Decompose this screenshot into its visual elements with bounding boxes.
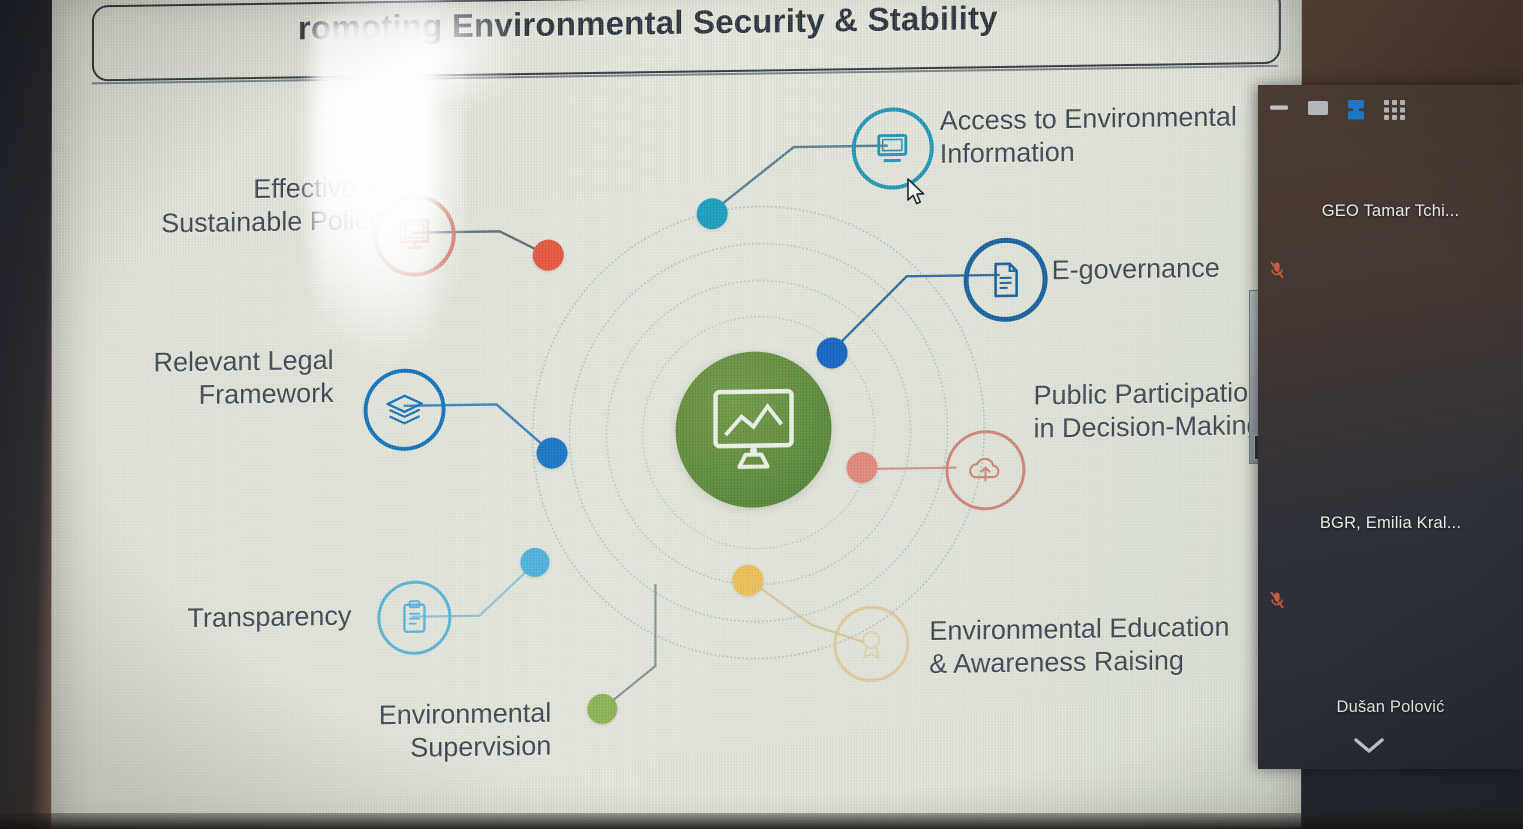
participant-tile[interactable]: BGR, Emilia Kral... (1258, 463, 1523, 643)
chevron-down-icon[interactable] (1352, 736, 1386, 756)
monitor-icon (374, 194, 456, 277)
participant-name: Dušan Polović (1258, 698, 1523, 717)
participant-tile[interactable]: GEO Tamar Tchi... (1258, 129, 1523, 289)
node-label-relevant-legal-framework: Relevant Legal Framework (52, 344, 334, 414)
participant-name: GEO Tamar Tchi... (1258, 202, 1523, 221)
participant-tile[interactable]: Dušan Polović (1258, 648, 1523, 808)
mouse-cursor (906, 178, 928, 213)
participant-name: BGR, Emilia Kral... (1258, 514, 1523, 533)
node-label-effective-sustainable-policy: Effective & Sustainable Policy (52, 171, 382, 242)
layers-icon (364, 368, 446, 451)
minimize-icon[interactable] (1268, 99, 1294, 120)
node-dot-environmental-supervision (587, 694, 617, 724)
gallery-view-icon[interactable] (1382, 99, 1408, 126)
document-icon (964, 237, 1048, 322)
cloud-upload-icon (945, 430, 1025, 511)
video-panel-toolbar (1258, 85, 1523, 129)
node-label-transparency: Transparency (51, 600, 351, 637)
photo-of-projected-screen: romoting Environmental Security & Stabil… (0, 0, 1523, 829)
badge-icon (833, 605, 909, 682)
mic-muted-icon (1270, 261, 1284, 279)
video-conference-panel[interactable]: GEO Tamar Tchi... BGR, Emilia Kral... (1258, 85, 1523, 769)
mic-muted-icon (1270, 591, 1284, 609)
clipboard-icon (377, 580, 451, 655)
speaker-view-icon[interactable] (1344, 99, 1370, 126)
presentation-slide: romoting Environmental Security & Stabil… (51, 0, 1302, 829)
node-label-environmental-supervision: Environmental Supervision (201, 697, 551, 768)
single-view-icon[interactable] (1306, 99, 1332, 122)
monitor-chart-icon (675, 350, 831, 508)
room-floor-shadow (0, 813, 1523, 829)
